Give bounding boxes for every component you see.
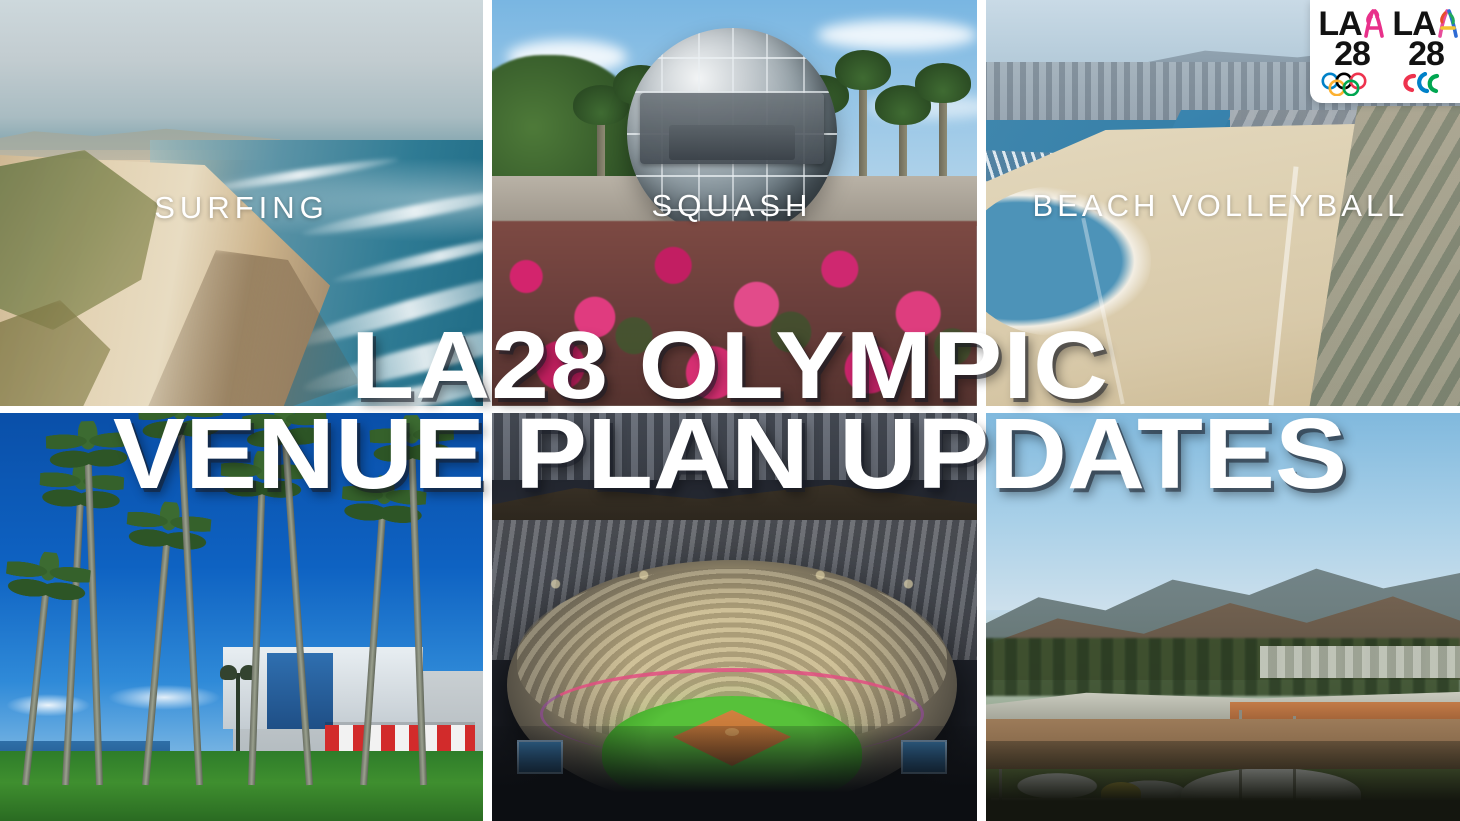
la28-olympic-emblem: LA 28 (1318, 9, 1386, 96)
agitos-icon (1392, 72, 1460, 96)
panel-triathlon[interactable]: TRIATHLON (0, 410, 487, 821)
foreground-shadow (487, 726, 977, 821)
city-skyline (487, 410, 977, 480)
cricket-photo (981, 410, 1460, 821)
olympic-rings-icon (1318, 72, 1386, 96)
foreground-shadow (981, 741, 1460, 821)
panel-squash[interactable]: SQUASH (487, 0, 981, 410)
poster-canvas: SURFING (0, 0, 1460, 821)
bougainvillea-flowerbed (487, 221, 977, 406)
grid-seam-horizontal (0, 408, 1460, 413)
la28-logo-lockup[interactable]: LA 28 (1310, 0, 1460, 103)
baseball-photo (487, 410, 977, 821)
sky (981, 410, 1460, 610)
la28-pink-a-icon (1362, 9, 1386, 39)
panel-cricket[interactable]: CRICKET (981, 410, 1460, 821)
grass-lawn (0, 751, 483, 821)
panel-baseball[interactable]: BASEBALL (487, 410, 981, 821)
cloud (817, 20, 977, 50)
la28-paralympic-year: 28 (1392, 39, 1460, 69)
sport-label-beach-volleyball: BEACH VOLLEYBALL (981, 188, 1460, 224)
palm-tree (177, 425, 203, 785)
la28-colorful-a-icon (1436, 9, 1460, 39)
sport-label-surfing: SURFING (0, 190, 483, 226)
distant-town (1260, 646, 1460, 678)
stadium-lights (487, 560, 977, 600)
street-lamp (236, 673, 240, 751)
sport-label-squash: SQUASH (487, 188, 977, 224)
sky (0, 0, 483, 150)
la28-paralympic-emblem: LA 28 (1392, 9, 1460, 96)
triathlon-photo (0, 410, 483, 821)
la28-olympic-year: 28 (1318, 39, 1386, 69)
panel-surfing[interactable]: SURFING (0, 0, 487, 410)
